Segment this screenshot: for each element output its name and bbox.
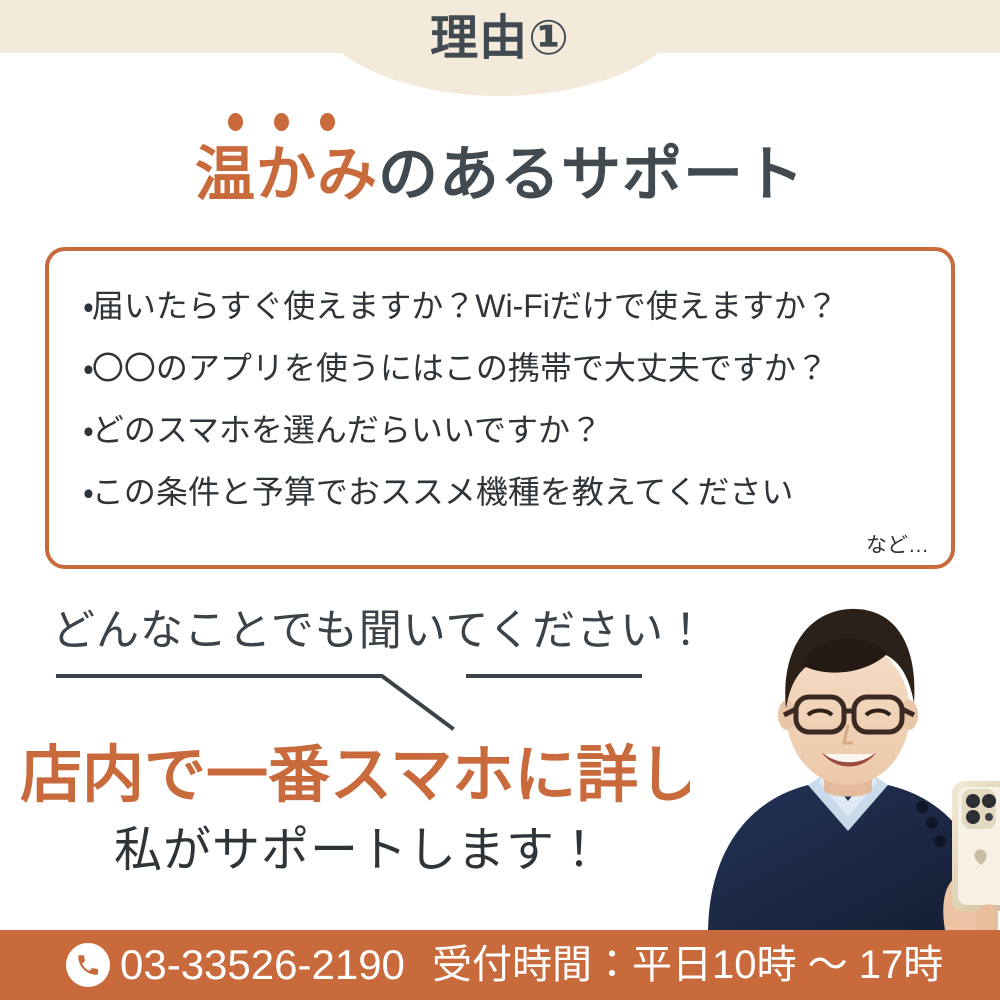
phone-number[interactable]: 03-33526-2190 xyxy=(120,940,405,990)
emphasis-dot xyxy=(228,113,243,131)
ask-anything-text: どんなことでも聞いてください！ xyxy=(52,602,708,660)
headline-secondary: 私がサポートします！ xyxy=(0,818,718,884)
page-title: 温かみのあるサポート xyxy=(0,136,1000,214)
bullet-marker: ・ xyxy=(83,412,92,448)
page-title-rest: のあるサポート xyxy=(378,141,805,208)
list-item: ・〇〇のアプリを使うにはこの携帯で大丈夫ですか？ xyxy=(83,337,933,399)
list-item-label: この条件と予算でおススメ機種を教えてください xyxy=(92,474,793,510)
page-title-highlight: 温かみ xyxy=(195,141,378,208)
emphasis-dot xyxy=(320,113,335,131)
question-box: ・届いたらすぐ使えますか？Wi-Fiだけで使えますか？ ・〇〇のアプリを使うには… xyxy=(45,247,955,569)
list-item: ・この条件と予算でおススメ機種を教えてください xyxy=(83,461,933,523)
headline-primary: 店内で一番スマホに詳しい xyxy=(20,738,762,814)
list-item-label: どのスマホを選んだらいいですか？ xyxy=(92,412,602,448)
bullet-marker: ・ xyxy=(83,350,92,386)
list-item: ・届いたらすぐ使えますか？Wi-Fiだけで使えますか？ xyxy=(83,275,933,337)
contact-footer: 03-33526-2190 受付時間：平日10時 〜 17時 xyxy=(0,930,1000,1000)
list-item-label: 届いたらすぐ使えますか？Wi-Fiだけで使えますか？ xyxy=(92,288,838,324)
business-hours: 受付時間：平日10時 〜 17時 xyxy=(432,941,943,989)
list-item: ・どのスマホを選んだらいいですか？ xyxy=(83,399,933,461)
smartphone xyxy=(952,781,1000,911)
etc-note: など… xyxy=(866,529,929,559)
staff-photo xyxy=(690,585,1000,935)
question-list: ・届いたらすぐ使えますか？Wi-Fiだけで使えますか？ ・〇〇のアプリを使うには… xyxy=(83,275,933,523)
speech-tail-underline-icon xyxy=(40,662,680,740)
reason-badge-label: 理由① xyxy=(0,9,1000,69)
phone-handset-icon xyxy=(66,943,110,987)
emphasis-dots-icon xyxy=(228,113,388,135)
emphasis-dot xyxy=(274,113,289,131)
list-item-label: 〇〇のアプリを使うにはこの携帯で大丈夫ですか？ xyxy=(92,350,828,386)
promo-poster: 理由① 温かみのあるサポート ・届いたらすぐ使えますか？Wi-Fiだけで使えます… xyxy=(0,0,1000,1000)
bullet-marker: ・ xyxy=(83,288,92,324)
bullet-marker: ・ xyxy=(83,474,92,510)
